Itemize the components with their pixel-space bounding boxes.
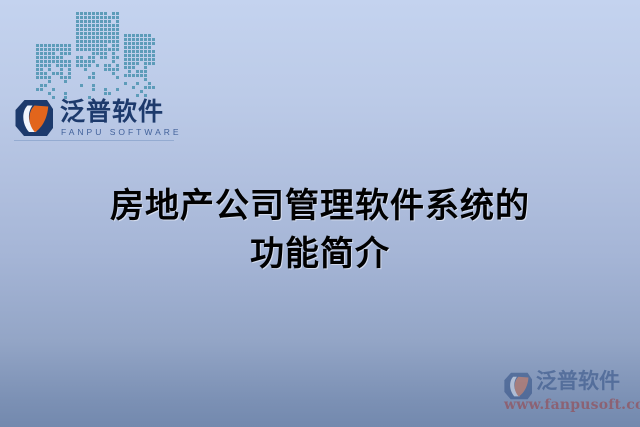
fanpu-logo-mark-watermark-icon	[503, 372, 533, 400]
page-title-line-2: 功能简介	[0, 230, 640, 278]
brand-name-en: FANPU SOFTWARE	[60, 127, 180, 138]
brand-logo: 泛普软件 FANPU SOFTWARE	[14, 97, 174, 143]
brand-logo-text: 泛普软件 FANPU SOFTWARE	[60, 97, 180, 138]
logo-divider	[14, 140, 174, 141]
page-title-line-1: 房地产公司管理软件系统的	[0, 182, 640, 230]
watermark-url: www.fanpusoft.com	[504, 397, 640, 413]
slide-canvas: 泛普软件 FANPU SOFTWARE 房地产公司管理软件系统的 功能简介 泛普…	[0, 0, 640, 427]
brand-name-cn: 泛普软件	[60, 97, 180, 127]
page-title: 房地产公司管理软件系统的 功能简介	[0, 182, 640, 278]
watermark-brand-cn: 泛普软件	[536, 369, 620, 395]
fanpu-logo-mark-icon	[14, 99, 54, 137]
pixel-city-skyline-icon	[36, 6, 156, 98]
watermark: 泛普软件 www.fanpusoft.com	[503, 368, 637, 420]
